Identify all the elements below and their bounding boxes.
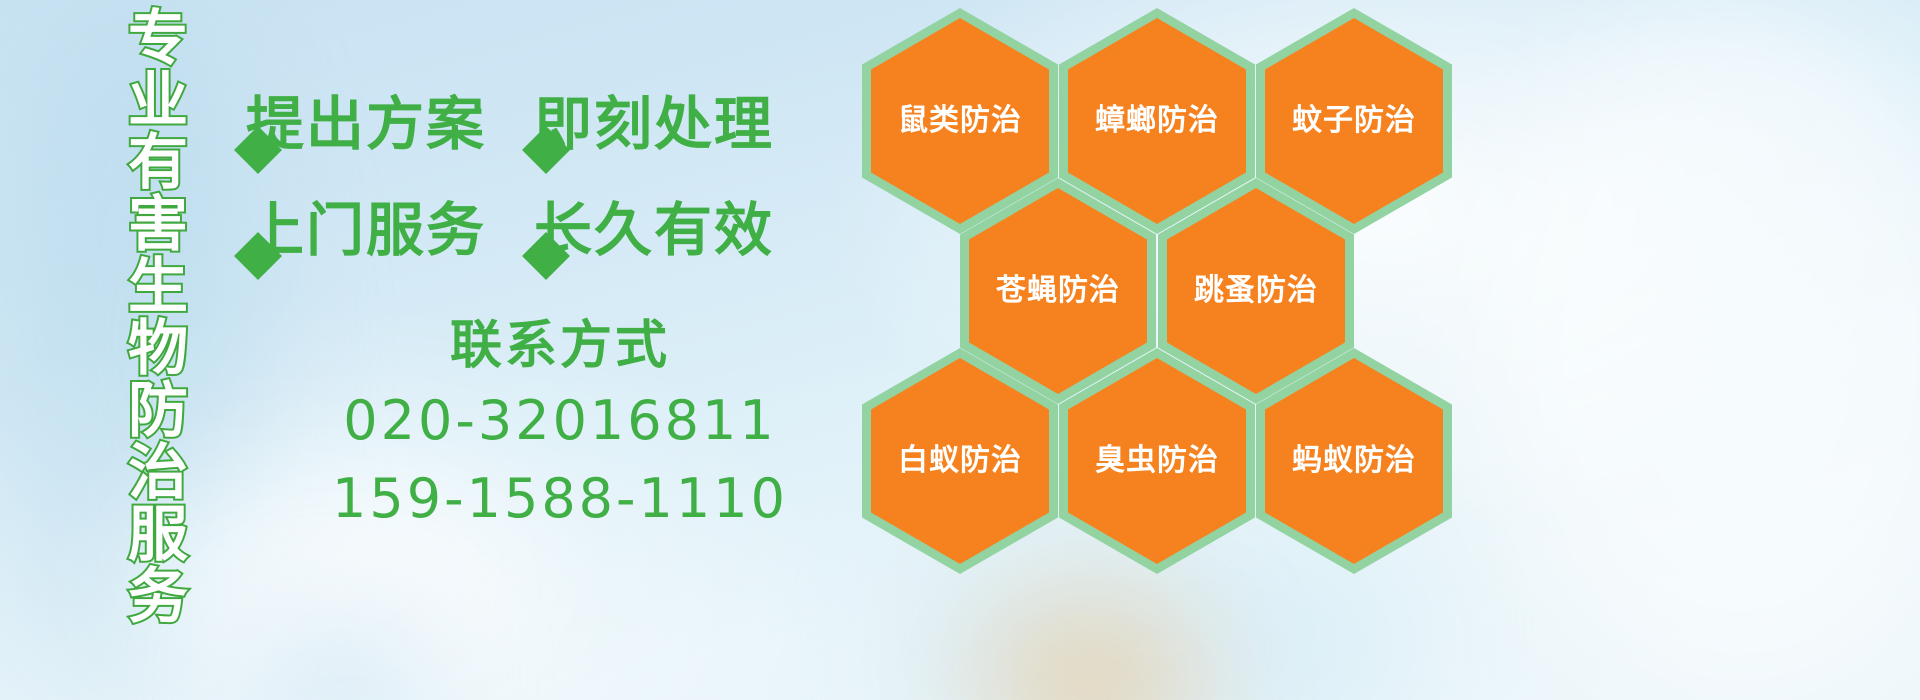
- vertical-title-char-7: 治: [128, 442, 188, 504]
- hex-label-termite: 白蚁防治: [898, 444, 1022, 478]
- hex-label-flea: 跳蚤防治: [1194, 274, 1318, 308]
- vertical-title-char-4: 生: [128, 256, 188, 318]
- vertical-title-char-5: 物: [128, 318, 188, 380]
- feature-item-1: 即刻处理: [520, 88, 774, 160]
- contact-phone-landline[interactable]: 020-32016811: [300, 382, 820, 460]
- background-blob-right: [1480, 0, 1920, 700]
- hex-service-termite[interactable]: 白蚁防治: [862, 348, 1058, 574]
- hex-label-mosquito: 蚊子防治: [1292, 104, 1416, 138]
- feature-item-2: 上门服务: [232, 194, 486, 266]
- feature-label-3: 长久有效: [534, 194, 774, 266]
- honeycomb-service-grid: 鼠类防治 蟑螂防治 蚊子防治 苍蝇防治 跳蚤防治 白蚁防治: [862, 0, 1462, 560]
- background-blob-orange: [980, 600, 1200, 700]
- vertical-title-char-6: 防: [128, 380, 188, 442]
- vertical-title-char-1: 业: [128, 70, 188, 132]
- feature-label-0: 提出方案: [246, 88, 486, 160]
- feature-item-0: 提出方案: [232, 88, 486, 160]
- feature-label-1: 即刻处理: [534, 88, 774, 160]
- pest-control-banner: 专 业 有 害 生 物 防 治 服 务 提出方案 即刻处理: [0, 0, 1920, 700]
- hex-label-rodent: 鼠类防治: [898, 104, 1022, 138]
- hex-label-bedbug: 臭虫防治: [1095, 444, 1219, 478]
- contact-block: 联系方式 020-32016811 159-1588-1110: [300, 310, 820, 538]
- vertical-title: 专 业 有 害 生 物 防 治 服 务: [112, 8, 204, 568]
- vertical-title-char-0: 专: [128, 8, 188, 70]
- vertical-title-char-2: 有: [128, 132, 188, 194]
- vertical-title-char-3: 害: [128, 194, 188, 256]
- contact-phone-mobile[interactable]: 159-1588-1110: [300, 460, 820, 538]
- hex-label-fly: 苍蝇防治: [996, 274, 1120, 308]
- hex-service-bedbug[interactable]: 臭虫防治: [1059, 348, 1255, 574]
- feature-label-2: 上门服务: [246, 194, 486, 266]
- vertical-title-char-9: 务: [128, 566, 188, 628]
- vertical-title-char-8: 服: [128, 504, 188, 566]
- hex-service-ant[interactable]: 蚂蚁防治: [1256, 348, 1452, 574]
- background-blob-bottom-left: [250, 620, 430, 700]
- hex-label-cockroach: 蟑螂防治: [1095, 104, 1219, 138]
- feature-row-2: 上门服务 长久有效: [232, 194, 774, 266]
- feature-item-3: 长久有效: [520, 194, 774, 266]
- feature-row-1: 提出方案 即刻处理: [232, 88, 774, 160]
- contact-title: 联系方式: [300, 310, 820, 382]
- hex-label-ant: 蚂蚁防治: [1292, 444, 1416, 478]
